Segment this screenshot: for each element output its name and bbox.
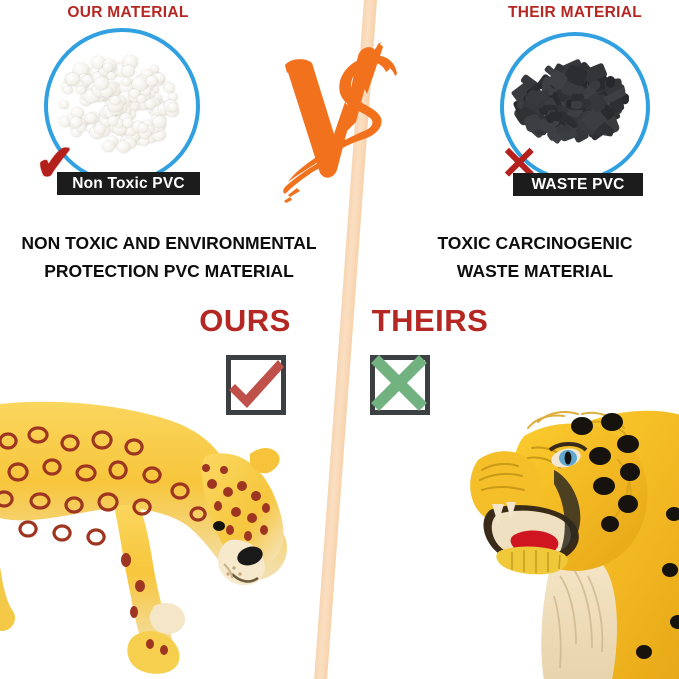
waste-pvc-label: WASTE PVC [513,173,643,196]
their-material-description: TOXIC CARCINOGENIC WASTE MATERIAL [404,229,666,285]
our-description-line-2: PROTECTION PVC MATERIAL [4,257,334,285]
ours-verdict-label: OURS [175,303,315,339]
their-description-line-2: WASTE MATERIAL [404,257,666,285]
leopard-toy-right-photo [432,400,679,679]
their-description-line-1: TOXIC CARCINOGENIC [404,229,666,257]
comparison-infographic: OUR MATERIAL THEIR MATERIAL ✔ ✕ Non Toxi… [0,0,679,679]
their-material-header: THEIR MATERIAL [495,4,655,22]
red-checkmark-icon [222,348,288,414]
our-material-header: OUR MATERIAL [48,4,208,22]
our-description-line-1: NON TOXIC AND ENVIRONMENTAL [4,229,334,257]
vs-brush-stroke-icon [282,42,398,212]
our-material-description: NON TOXIC AND ENVIRONMENTAL PROTECTION P… [4,229,334,285]
non-toxic-pvc-label: Non Toxic PVC [57,172,200,195]
leopard-toy-left-photo [0,398,306,679]
theirs-verdict-label: THEIRS [355,303,505,339]
green-cross-icon [366,348,432,414]
